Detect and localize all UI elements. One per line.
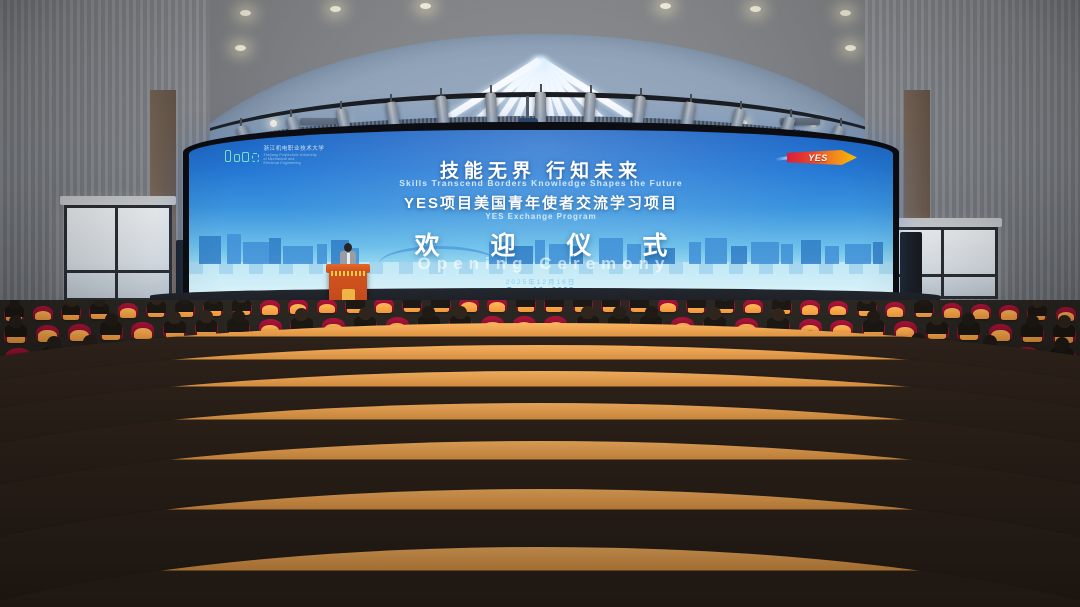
university-name-cn: 浙江机电职业技术大学 — [264, 146, 325, 153]
audience-person — [630, 300, 649, 308]
audience-head — [94, 300, 105, 307]
audience-head — [1055, 337, 1070, 352]
audience-head — [581, 306, 594, 319]
audience-head — [359, 307, 372, 320]
auditorium-photo: 浙江机电职业技术大学 Zhejiang Polytechnic Universi… — [0, 0, 1080, 607]
audience-head — [931, 312, 944, 325]
seat — [944, 308, 960, 318]
window-left — [64, 205, 172, 301]
led-screen-frame: 浙江机电职业技术大学 Zhejiang Polytechnic Universi… — [183, 122, 899, 312]
ceiling-downlight — [845, 45, 856, 51]
seat — [973, 309, 989, 319]
seat — [35, 311, 51, 321]
seat — [830, 306, 846, 316]
podium-banner-text — [331, 271, 365, 276]
ceiling-downlight — [420, 3, 431, 9]
seat — [489, 302, 505, 312]
window-mullion — [67, 270, 169, 273]
screen-program-en: YES Exchange Program — [189, 212, 893, 221]
audience-head — [645, 306, 658, 319]
audience-head — [168, 311, 181, 324]
seat — [745, 304, 761, 314]
audience-person — [687, 300, 706, 308]
ceiling-downlight — [840, 10, 851, 16]
seat — [120, 308, 136, 318]
audience-head — [9, 315, 22, 328]
seat — [319, 304, 335, 314]
audience-head — [962, 313, 975, 326]
audience-head — [9, 300, 20, 309]
screen-program-cn: YES项目美国青年使者交流学习项目 — [189, 192, 893, 213]
led-screen: 浙江机电职业技术大学 Zhejiang Polytechnic Universi… — [189, 130, 893, 302]
ceiling-downlight — [750, 6, 761, 12]
window-mullion — [941, 230, 944, 296]
audience-head — [867, 310, 880, 323]
seat — [660, 303, 676, 313]
loudspeaker-right — [900, 232, 922, 302]
audience-head — [295, 308, 308, 321]
audience-person — [516, 300, 535, 307]
audience-head — [708, 307, 721, 320]
audience-head — [66, 300, 77, 307]
audience-head — [105, 313, 118, 326]
audience-head — [1026, 315, 1039, 328]
presenter-head — [344, 243, 352, 252]
audience-seating — [0, 300, 1080, 607]
audience-head — [613, 306, 626, 319]
seat — [376, 303, 392, 313]
audience-head — [1032, 300, 1043, 308]
ceiling-downlight — [660, 3, 671, 9]
audience-head — [772, 308, 785, 321]
audience-person — [431, 300, 450, 308]
ceiling-downlight — [240, 10, 251, 16]
right-window-header — [884, 218, 1002, 227]
seat — [134, 328, 152, 339]
screen-ceremony-en: Opening Ceremony — [189, 254, 893, 274]
screen-headline-en: Skills Transcend Borders Knowledge Shape… — [189, 178, 893, 188]
audience-head — [454, 306, 467, 319]
seat — [1001, 310, 1017, 320]
ceiling-downlight — [330, 6, 341, 12]
window-mullion — [115, 208, 118, 298]
audience-head — [200, 310, 213, 323]
seat — [802, 305, 818, 315]
audience-head — [232, 310, 245, 323]
audience-person — [403, 300, 422, 308]
left-window-header — [60, 196, 176, 205]
seat — [262, 305, 278, 315]
audience-head — [422, 306, 435, 319]
audience-head — [1058, 315, 1071, 328]
ceiling-downlight — [235, 45, 246, 51]
audience-person — [545, 300, 564, 307]
audience-head — [208, 300, 219, 304]
seat — [887, 307, 903, 317]
